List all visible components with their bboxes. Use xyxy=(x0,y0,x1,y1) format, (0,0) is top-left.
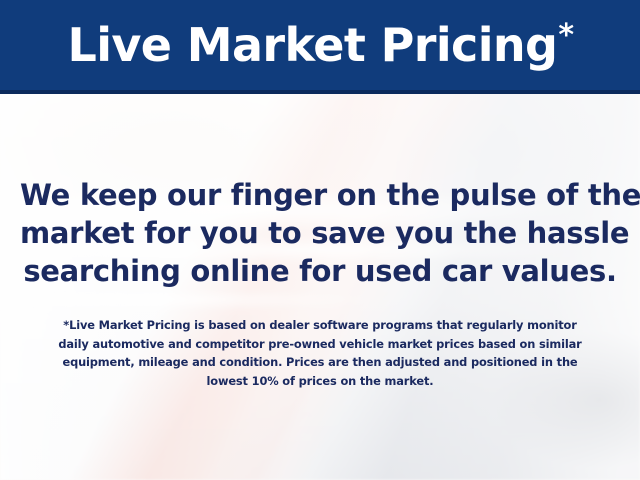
page-title-text: Live Market Pricing xyxy=(68,18,558,72)
disclaimer-line-1: *Live Market Pricing is based on dealer … xyxy=(20,316,620,335)
headline-text: We keep our finger on the pulse of the m… xyxy=(20,176,620,290)
disclaimer-text: *Live Market Pricing is based on dealer … xyxy=(20,316,620,390)
title-band-bottom-rule xyxy=(0,90,640,94)
disclaimer-line-3: equipment, mileage and condition. Prices… xyxy=(20,353,620,372)
page-title: Live Market Pricing* xyxy=(0,0,640,90)
headline-line-3: searching online for used car values. xyxy=(20,252,620,290)
headline-line-1: We keep our finger on the pulse of the xyxy=(20,176,620,214)
title-band: Live Market Pricing* xyxy=(0,0,640,94)
disclaimer-line-4: lowest 10% of prices on the market. xyxy=(20,372,620,391)
live-market-pricing-banner: Live Market Pricing* We keep our finger … xyxy=(0,0,640,480)
headline-line-2: market for you to save you the hassle of xyxy=(20,214,620,252)
disclaimer-line-2: daily automotive and competitor pre-owne… xyxy=(20,335,620,354)
